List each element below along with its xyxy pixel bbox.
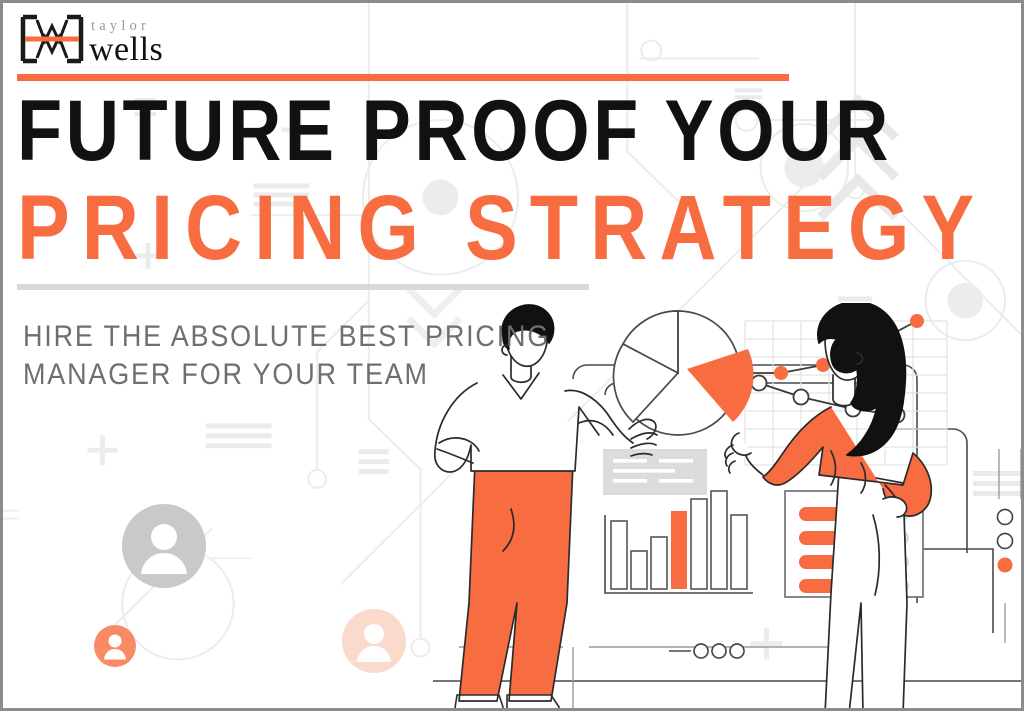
svg-text:wells: wells xyxy=(89,31,163,67)
subtitle-block: HIRE THE ABSOLUTE BEST PRICING MANAGER F… xyxy=(23,318,550,395)
headline-block: FUTURE PROOF YOUR PRICING STRATEGY xyxy=(17,91,1024,272)
bar-chart xyxy=(605,491,753,593)
brand-logo[interactable]: taylor wells xyxy=(17,11,217,67)
headline-line-2: PRICING STRATEGY xyxy=(17,185,986,272)
orange-divider-rule xyxy=(17,74,789,81)
text-placeholder-card xyxy=(603,449,707,495)
pagination-dots xyxy=(669,644,744,658)
pie-chart xyxy=(614,311,754,435)
bar-highlight xyxy=(671,511,687,589)
avatar-large-peach xyxy=(342,609,406,673)
avatar-large-gray xyxy=(122,504,206,588)
poster-canvas: taylor wells FUTURE PROOF YOUR PRICING S… xyxy=(0,0,1024,711)
subtitle-line-1: HIRE THE ABSOLUTE BEST PRICING xyxy=(23,318,550,356)
headline-line-1: FUTURE PROOF YOUR xyxy=(17,91,986,173)
subtitle-line-2: MANAGER FOR YOUR TEAM xyxy=(23,356,550,394)
status-dots xyxy=(998,510,1013,573)
gray-divider-rule xyxy=(17,284,589,290)
avatar-small-orange xyxy=(94,625,136,667)
